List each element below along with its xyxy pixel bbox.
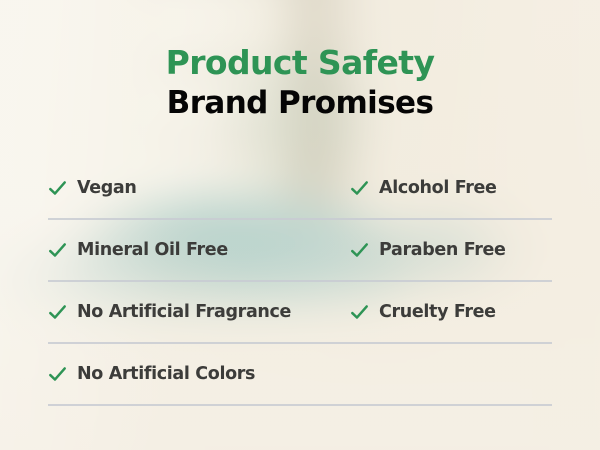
promise-label: No Artificial Fragrance xyxy=(77,302,291,322)
check-icon xyxy=(350,179,369,198)
promise-row: Mineral Oil Free Paraben Free xyxy=(48,220,552,282)
promises-list: Vegan Alcohol Free xyxy=(48,158,552,406)
promise-item-cruelty-free: Cruelty Free xyxy=(350,302,552,322)
title-line-secondary: Brand Promises xyxy=(0,88,600,119)
promise-item-alcohol-free: Alcohol Free xyxy=(350,178,552,198)
promise-item-vegan: Vegan xyxy=(48,178,350,198)
check-icon xyxy=(350,303,369,322)
promise-row: Vegan Alcohol Free xyxy=(48,158,552,220)
check-icon xyxy=(350,241,369,260)
check-icon xyxy=(48,179,67,198)
check-icon xyxy=(48,303,67,322)
title-line-primary: Product Safety xyxy=(0,46,600,79)
promise-item-no-artificial-colors: No Artificial Colors xyxy=(48,364,350,384)
promise-label: Paraben Free xyxy=(379,240,506,260)
check-icon xyxy=(48,365,67,384)
check-icon xyxy=(48,241,67,260)
page-title: Product Safety Brand Promises xyxy=(0,46,600,119)
promise-item-paraben-free: Paraben Free xyxy=(350,240,552,260)
promise-label: No Artificial Colors xyxy=(77,364,255,384)
promo-card: Product Safety Brand Promises Vegan xyxy=(0,0,600,450)
promise-item-no-artificial-fragrance: No Artificial Fragrance xyxy=(48,302,350,322)
promise-label: Mineral Oil Free xyxy=(77,240,228,260)
promise-item-mineral-oil-free: Mineral Oil Free xyxy=(48,240,350,260)
promise-row: No Artificial Fragrance Cruelty Free xyxy=(48,282,552,344)
promise-label: Cruelty Free xyxy=(379,302,496,322)
promise-label: Alcohol Free xyxy=(379,178,497,198)
promise-label: Vegan xyxy=(77,178,137,198)
promise-row: No Artificial Colors xyxy=(48,344,552,406)
row-divider xyxy=(48,404,552,406)
